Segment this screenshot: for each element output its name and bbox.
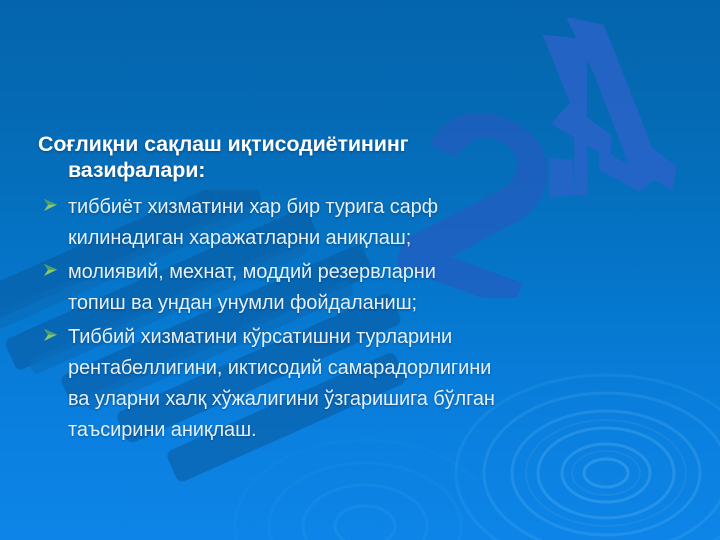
slide-title: Соғлиқни сақлаш иқтисодиётининг вазифала… [38, 131, 698, 183]
arrowhead-bullet-icon [42, 326, 60, 344]
list-item: тиббиёт хизматини хар бир турига сарф ки… [38, 192, 710, 254]
list-item: молиявий, мехнат, моддий резервларни топ… [38, 257, 710, 319]
list-item-line: топиш ва ундан унумли фойдаланиш; [68, 288, 710, 319]
list-item-line: ва уларни халқ хўжалигини ўзгаришига бўл… [68, 384, 710, 415]
presentation-slide: Соғлиқни сақлаш иқтисодиётининг вазифала… [0, 0, 720, 540]
list-item-line: тиббиёт хизматини хар бир турига сарф [68, 192, 710, 223]
arrowhead-bullet-icon [42, 261, 60, 279]
slide-title-line-2: вазифалари: [38, 157, 698, 183]
list-item: Тиббий хизматини кўрсатишни турларини ре… [38, 322, 710, 446]
slide-title-line-1: Соғлиқни сақлаш иқтисодиётининг [38, 131, 698, 157]
list-item-line: Тиббий хизматини кўрсатишни турларини [68, 322, 710, 353]
list-item-text: молиявий, мехнат, моддий резервларни топ… [68, 257, 710, 319]
list-item-line: килинадиган харажатларни аниқлаш; [68, 223, 710, 254]
arrowhead-bullet-icon [42, 196, 60, 214]
list-item-text: тиббиёт хизматини хар бир турига сарф ки… [68, 192, 710, 254]
list-item-line: молиявий, мехнат, моддий резервларни [68, 257, 710, 288]
bullet-list: тиббиёт хизматини хар бир турига сарф ки… [38, 192, 710, 449]
list-item-text: Тиббий хизматини кўрсатишни турларини ре… [68, 322, 710, 446]
list-item-line: таъсирини аниқлаш. [68, 415, 710, 446]
slide-content: Соғлиқни сақлаш иқтисодиётининг вазифала… [0, 0, 720, 540]
list-item-line: рентабеллигини, иктисодий самарадорлигин… [68, 353, 710, 384]
